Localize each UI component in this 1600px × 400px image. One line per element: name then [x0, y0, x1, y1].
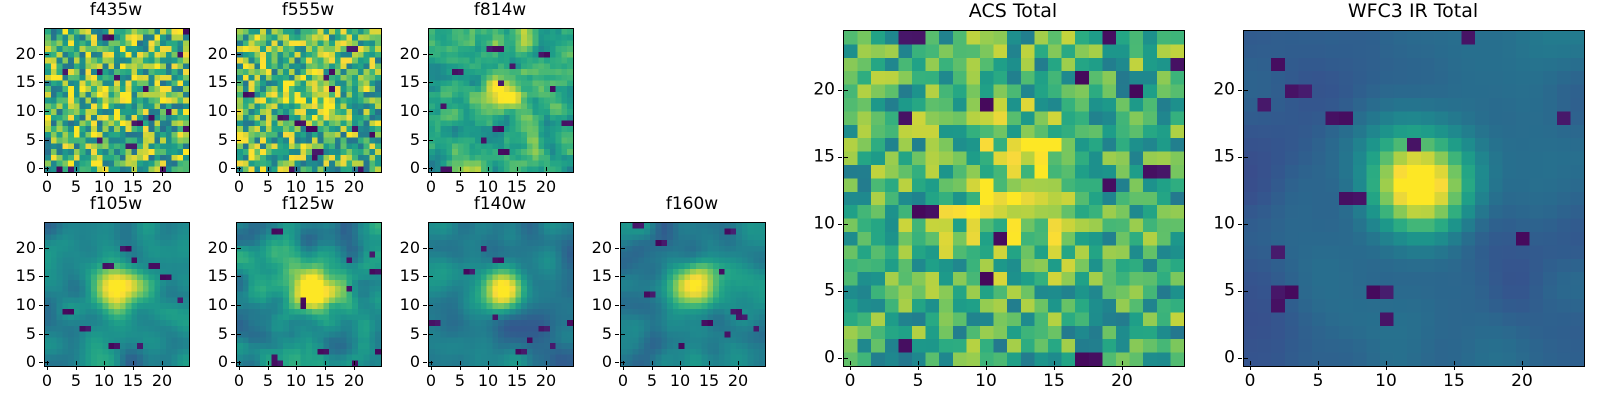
- ytick-inner-f125w-15: [237, 276, 241, 277]
- ytick-inner-f814w-5: [429, 140, 433, 141]
- ytick-inner-f160w-0: [621, 362, 625, 363]
- ytick-f160w-20: [615, 248, 619, 249]
- xtick-label-f140w-20: 20: [536, 373, 556, 389]
- ytick-f140w-10: [423, 305, 427, 306]
- xtick-f140w-0: [431, 366, 432, 370]
- ytick-label-wfc3-ir-total-10: 10: [1153, 216, 1235, 233]
- ytick-f140w-20: [423, 248, 427, 249]
- ytick-label-f814w-20: 20: [338, 46, 420, 62]
- ytick-f160w-10: [615, 305, 619, 306]
- xtick-label-f160w-0: 0: [618, 373, 628, 389]
- ytick-label-f555w-10: 10: [146, 103, 228, 119]
- xtick-wfc3-ir-total-0: [1250, 366, 1251, 370]
- ytick-f555w-10: [231, 111, 235, 112]
- ytick-f555w-15: [231, 82, 235, 83]
- xtick-f814w-10: [488, 172, 489, 176]
- ytick-inner-f105w-15: [45, 276, 49, 277]
- ytick-inner-f555w-0: [237, 168, 241, 169]
- panel-title-f435w: f435w: [44, 2, 188, 19]
- xtick-f435w-0: [47, 172, 48, 176]
- xtick-f125w-15: [325, 366, 326, 370]
- xtick-inner-f105w-15: [133, 361, 134, 365]
- ytick-f125w-10: [231, 305, 235, 306]
- ytick-label-f125w-20: 20: [146, 240, 228, 256]
- ytick-label-wfc3-ir-total-15: 15: [1153, 149, 1235, 166]
- ytick-label-f814w-10: 10: [338, 103, 420, 119]
- xtick-f105w-0: [47, 366, 48, 370]
- ytick-label-acs-total-15: 15: [753, 149, 835, 166]
- ytick-label-f140w-15: 15: [338, 268, 420, 284]
- xtick-inner-f814w-20: [546, 167, 547, 171]
- ytick-acs-total-15: [838, 157, 842, 158]
- ytick-inner-f125w-20: [237, 248, 241, 249]
- xtick-label-wfc3-ir-total-10: 10: [1375, 373, 1397, 390]
- ytick-inner-f105w-5: [45, 334, 49, 335]
- xtick-wfc3-ir-total-10: [1386, 366, 1387, 370]
- xtick-inner-f435w-15: [133, 167, 134, 171]
- xtick-label-f555w-10: 10: [286, 179, 306, 195]
- ytick-inner-f105w-10: [45, 305, 49, 306]
- xtick-label-f814w-0: 0: [426, 179, 436, 195]
- panel-title-f555w: f555w: [236, 2, 380, 19]
- ytick-f435w-20: [39, 54, 43, 55]
- ytick-f814w-20: [423, 54, 427, 55]
- ytick-label-f435w-5: 5: [0, 132, 36, 148]
- ytick-inner-f160w-5: [621, 334, 625, 335]
- ytick-inner-acs-total-15: [844, 157, 848, 158]
- ytick-label-f140w-20: 20: [338, 240, 420, 256]
- xtick-label-acs-total-20: 20: [1111, 373, 1133, 390]
- ytick-f814w-0: [423, 168, 427, 169]
- ytick-label-f140w-5: 5: [338, 326, 420, 342]
- xtick-wfc3-ir-total-20: [1522, 366, 1523, 370]
- ytick-label-f105w-20: 20: [0, 240, 36, 256]
- xtick-label-f140w-0: 0: [426, 373, 436, 389]
- heatmap-image-f814w: [429, 29, 573, 172]
- xtick-label-f160w-5: 5: [647, 373, 657, 389]
- xtick-inner-f125w-5: [268, 361, 269, 365]
- ytick-label-f814w-0: 0: [338, 160, 420, 176]
- xtick-inner-f435w-10: [104, 167, 105, 171]
- ytick-inner-f105w-0: [45, 362, 49, 363]
- xtick-f140w-10: [488, 366, 489, 370]
- ytick-inner-f125w-0: [237, 362, 241, 363]
- ytick-wfc3-ir-total-20: [1238, 90, 1242, 91]
- ytick-label-f125w-10: 10: [146, 297, 228, 313]
- xtick-label-f140w-5: 5: [455, 373, 465, 389]
- xtick-f814w-5: [460, 172, 461, 176]
- xtick-inner-f105w-10: [104, 361, 105, 365]
- xtick-label-wfc3-ir-total-5: 5: [1313, 373, 1324, 390]
- ytick-wfc3-ir-total-5: [1238, 291, 1242, 292]
- xtick-label-f105w-20: 20: [152, 373, 172, 389]
- ytick-acs-total-10: [838, 224, 842, 225]
- xtick-f105w-5: [76, 366, 77, 370]
- ytick-label-f160w-10: 10: [530, 297, 612, 313]
- xtick-inner-f125w-15: [325, 361, 326, 365]
- ytick-f105w-0: [39, 362, 43, 363]
- xtick-label-f160w-20: 20: [728, 373, 748, 389]
- ytick-inner-f814w-15: [429, 82, 433, 83]
- xtick-label-f435w-10: 10: [94, 179, 114, 195]
- ytick-f435w-15: [39, 82, 43, 83]
- ytick-f814w-10: [423, 111, 427, 112]
- axes-acs-total[interactable]: [843, 30, 1185, 367]
- ytick-inner-acs-total-20: [844, 90, 848, 91]
- panel-f160w: f160w0510152005101520: [620, 196, 764, 395]
- xtick-label-f160w-10: 10: [670, 373, 690, 389]
- xtick-f125w-10: [296, 366, 297, 370]
- ytick-inner-wfc3-ir-total-5: [1244, 291, 1248, 292]
- ytick-label-f435w-15: 15: [0, 74, 36, 90]
- xtick-label-acs-total-5: 5: [913, 373, 924, 390]
- ytick-label-f105w-15: 15: [0, 268, 36, 284]
- xtick-inner-f160w-5: [652, 361, 653, 365]
- xtick-inner-wfc3-ir-total-15: [1454, 361, 1455, 365]
- ytick-f555w-20: [231, 54, 235, 55]
- axes-wfc3-ir-total[interactable]: [1243, 30, 1585, 367]
- xtick-label-f125w-15: 15: [315, 373, 335, 389]
- xtick-label-f814w-5: 5: [455, 179, 465, 195]
- ytick-f125w-5: [231, 334, 235, 335]
- xtick-acs-total-0: [850, 366, 851, 370]
- ytick-inner-f140w-20: [429, 248, 433, 249]
- panel-acs-total: ACS Total0510152005101520: [843, 2, 1183, 395]
- ytick-inner-f140w-5: [429, 334, 433, 335]
- ytick-inner-acs-total-0: [844, 358, 848, 359]
- xtick-f160w-5: [652, 366, 653, 370]
- ytick-inner-f435w-15: [45, 82, 49, 83]
- xtick-inner-acs-total-0: [850, 361, 851, 365]
- panel-f814w: f814w0510152005101520: [428, 2, 572, 201]
- panel-title-f814w: f814w: [428, 2, 572, 19]
- ytick-label-f160w-0: 0: [530, 354, 612, 370]
- xtick-inner-f160w-15: [709, 361, 710, 365]
- ytick-acs-total-5: [838, 291, 842, 292]
- panel-title-f105w: f105w: [44, 196, 188, 213]
- xtick-label-f105w-15: 15: [123, 373, 143, 389]
- panel-title-f140w: f140w: [428, 196, 572, 213]
- xtick-label-f125w-10: 10: [286, 373, 306, 389]
- ytick-inner-f555w-10: [237, 111, 241, 112]
- xtick-inner-wfc3-ir-total-0: [1250, 361, 1251, 365]
- ytick-inner-f814w-0: [429, 168, 433, 169]
- xtick-label-f140w-10: 10: [478, 373, 498, 389]
- ytick-inner-f125w-10: [237, 305, 241, 306]
- ytick-label-f105w-10: 10: [0, 297, 36, 313]
- xtick-label-f814w-15: 15: [507, 179, 527, 195]
- xtick-label-f140w-15: 15: [507, 373, 527, 389]
- ytick-label-f125w-15: 15: [146, 268, 228, 284]
- xtick-inner-f160w-20: [738, 361, 739, 365]
- ytick-f160w-0: [615, 362, 619, 363]
- xtick-f555w-10: [296, 172, 297, 176]
- ytick-label-f125w-0: 0: [146, 354, 228, 370]
- ytick-inner-f814w-20: [429, 54, 433, 55]
- ytick-inner-f435w-0: [45, 168, 49, 169]
- ytick-wfc3-ir-total-15: [1238, 157, 1242, 158]
- ytick-inner-wfc3-ir-total-10: [1244, 224, 1248, 225]
- ytick-label-f435w-20: 20: [0, 46, 36, 62]
- xtick-acs-total-20: [1122, 366, 1123, 370]
- ytick-f125w-20: [231, 248, 235, 249]
- xtick-f125w-0: [239, 366, 240, 370]
- xtick-f435w-15: [133, 172, 134, 176]
- xtick-label-f435w-0: 0: [42, 179, 52, 195]
- ytick-label-f555w-0: 0: [146, 160, 228, 176]
- xtick-f140w-5: [460, 366, 461, 370]
- xtick-f555w-5: [268, 172, 269, 176]
- xtick-inner-f814w-15: [517, 167, 518, 171]
- xtick-inner-f140w-5: [460, 361, 461, 365]
- xtick-label-f435w-20: 20: [152, 179, 172, 195]
- ytick-label-acs-total-0: 0: [753, 350, 835, 367]
- panel-title-f160w: f160w: [620, 196, 764, 213]
- ytick-inner-f160w-15: [621, 276, 625, 277]
- ytick-inner-acs-total-10: [844, 224, 848, 225]
- ytick-label-acs-total-10: 10: [753, 216, 835, 233]
- ytick-f105w-10: [39, 305, 43, 306]
- xtick-f435w-10: [104, 172, 105, 176]
- ytick-inner-f125w-5: [237, 334, 241, 335]
- ytick-wfc3-ir-total-0: [1238, 358, 1242, 359]
- heatmap-image-wfc3-ir-total: [1244, 31, 1584, 366]
- xtick-label-f555w-5: 5: [263, 179, 273, 195]
- xtick-f435w-5: [76, 172, 77, 176]
- xtick-label-f105w-10: 10: [94, 373, 114, 389]
- xtick-label-f160w-15: 15: [699, 373, 719, 389]
- xtick-f160w-0: [623, 366, 624, 370]
- ytick-label-wfc3-ir-total-20: 20: [1153, 82, 1235, 99]
- xtick-inner-acs-total-5: [918, 361, 919, 365]
- ytick-acs-total-20: [838, 90, 842, 91]
- ytick-inner-wfc3-ir-total-0: [1244, 358, 1248, 359]
- ytick-label-f814w-5: 5: [338, 132, 420, 148]
- ytick-f125w-0: [231, 362, 235, 363]
- ytick-inner-f105w-20: [45, 248, 49, 249]
- ytick-inner-f435w-5: [45, 140, 49, 141]
- ytick-inner-wfc3-ir-total-15: [1244, 157, 1248, 158]
- xtick-label-f105w-0: 0: [42, 373, 52, 389]
- xtick-f105w-10: [104, 366, 105, 370]
- ytick-inner-f555w-5: [237, 140, 241, 141]
- heatmap-image-acs-total: [844, 31, 1184, 366]
- xtick-label-acs-total-0: 0: [845, 373, 856, 390]
- ytick-label-wfc3-ir-total-0: 0: [1153, 350, 1235, 367]
- ytick-f105w-5: [39, 334, 43, 335]
- xtick-label-f125w-20: 20: [344, 373, 364, 389]
- xtick-label-f555w-0: 0: [234, 179, 244, 195]
- xtick-inner-wfc3-ir-total-5: [1318, 361, 1319, 365]
- ytick-f140w-0: [423, 362, 427, 363]
- xtick-inner-wfc3-ir-total-10: [1386, 361, 1387, 365]
- xtick-label-f555w-15: 15: [315, 179, 335, 195]
- xtick-label-f125w-0: 0: [234, 373, 244, 389]
- xtick-f555w-15: [325, 172, 326, 176]
- ytick-inner-f555w-20: [237, 54, 241, 55]
- ytick-inner-f160w-10: [621, 305, 625, 306]
- xtick-inner-f140w-15: [517, 361, 518, 365]
- xtick-wfc3-ir-total-15: [1454, 366, 1455, 370]
- ytick-f555w-0: [231, 168, 235, 169]
- ytick-label-wfc3-ir-total-5: 5: [1153, 283, 1235, 300]
- xtick-inner-f125w-10: [296, 361, 297, 365]
- xtick-inner-wfc3-ir-total-20: [1522, 361, 1523, 365]
- ytick-label-f160w-20: 20: [530, 240, 612, 256]
- ytick-f160w-15: [615, 276, 619, 277]
- ytick-label-f435w-10: 10: [0, 103, 36, 119]
- xtick-label-f125w-5: 5: [263, 373, 273, 389]
- xtick-wfc3-ir-total-5: [1318, 366, 1319, 370]
- ytick-inner-f140w-0: [429, 362, 433, 363]
- xtick-f105w-15: [133, 366, 134, 370]
- ytick-f435w-10: [39, 111, 43, 112]
- xtick-inner-f555w-15: [325, 167, 326, 171]
- panel-title-f125w: f125w: [236, 196, 380, 213]
- ytick-label-f140w-10: 10: [338, 297, 420, 313]
- ytick-inner-f814w-10: [429, 111, 433, 112]
- ytick-f435w-5: [39, 140, 43, 141]
- ytick-f555w-5: [231, 140, 235, 141]
- ytick-f814w-5: [423, 140, 427, 141]
- ytick-label-f160w-15: 15: [530, 268, 612, 284]
- ytick-label-f125w-5: 5: [146, 326, 228, 342]
- xtick-f140w-15: [517, 366, 518, 370]
- figure-canvas: f435w0510152005101520f555w05101520051015…: [0, 0, 1600, 400]
- xtick-label-f814w-20: 20: [536, 179, 556, 195]
- xtick-label-wfc3-ir-total-15: 15: [1443, 373, 1465, 390]
- xtick-label-acs-total-15: 15: [1043, 373, 1065, 390]
- ytick-label-f814w-15: 15: [338, 74, 420, 90]
- ytick-label-f140w-0: 0: [338, 354, 420, 370]
- xtick-f125w-5: [268, 366, 269, 370]
- xtick-label-f435w-5: 5: [71, 179, 81, 195]
- ytick-f435w-0: [39, 168, 43, 169]
- xtick-label-wfc3-ir-total-0: 0: [1245, 373, 1256, 390]
- ytick-inner-f435w-20: [45, 54, 49, 55]
- ytick-inner-f160w-20: [621, 248, 625, 249]
- panel-title-acs-total: ACS Total: [843, 2, 1183, 21]
- xtick-inner-f814w-10: [488, 167, 489, 171]
- xtick-label-f555w-20: 20: [344, 179, 364, 195]
- axes-f814w[interactable]: [428, 28, 574, 173]
- xtick-label-f435w-15: 15: [123, 179, 143, 195]
- ytick-label-f555w-5: 5: [146, 132, 228, 148]
- xtick-inner-f814w-5: [460, 167, 461, 171]
- xtick-f814w-15: [517, 172, 518, 176]
- ytick-label-f555w-20: 20: [146, 46, 228, 62]
- xtick-f160w-15: [709, 366, 710, 370]
- ytick-inner-acs-total-5: [844, 291, 848, 292]
- ytick-f814w-15: [423, 82, 427, 83]
- ytick-label-f435w-0: 0: [0, 160, 36, 176]
- ytick-label-acs-total-20: 20: [753, 82, 835, 99]
- panel-title-wfc3-ir-total: WFC3 IR Total: [1243, 2, 1583, 21]
- ytick-label-f105w-5: 5: [0, 326, 36, 342]
- xtick-inner-f105w-5: [76, 361, 77, 365]
- ytick-label-f105w-0: 0: [0, 354, 36, 370]
- axes-f160w[interactable]: [620, 222, 766, 367]
- xtick-acs-total-15: [1054, 366, 1055, 370]
- panel-wfc3-ir-total: WFC3 IR Total0510152005101520: [1243, 2, 1583, 395]
- ytick-label-acs-total-5: 5: [753, 283, 835, 300]
- ytick-inner-f140w-10: [429, 305, 433, 306]
- xtick-inner-f435w-5: [76, 167, 77, 171]
- ytick-f125w-15: [231, 276, 235, 277]
- ytick-f105w-15: [39, 276, 43, 277]
- xtick-inner-f160w-10: [680, 361, 681, 365]
- ytick-acs-total-0: [838, 358, 842, 359]
- ytick-inner-wfc3-ir-total-20: [1244, 90, 1248, 91]
- xtick-f814w-0: [431, 172, 432, 176]
- xtick-inner-acs-total-20: [1122, 361, 1123, 365]
- xtick-inner-f555w-5: [268, 167, 269, 171]
- ytick-f160w-5: [615, 334, 619, 335]
- ytick-label-f160w-5: 5: [530, 326, 612, 342]
- ytick-inner-f435w-10: [45, 111, 49, 112]
- ytick-f105w-20: [39, 248, 43, 249]
- xtick-label-f105w-5: 5: [71, 373, 81, 389]
- ytick-wfc3-ir-total-10: [1238, 224, 1242, 225]
- xtick-inner-acs-total-10: [986, 361, 987, 365]
- heatmap-image-f160w: [621, 223, 765, 366]
- xtick-f814w-20: [546, 172, 547, 176]
- xtick-f555w-0: [239, 172, 240, 176]
- ytick-inner-f140w-15: [429, 276, 433, 277]
- xtick-inner-acs-total-15: [1054, 361, 1055, 365]
- xtick-label-f814w-10: 10: [478, 179, 498, 195]
- xtick-f160w-20: [738, 366, 739, 370]
- xtick-label-acs-total-10: 10: [975, 373, 997, 390]
- xtick-label-wfc3-ir-total-20: 20: [1511, 373, 1533, 390]
- ytick-f140w-15: [423, 276, 427, 277]
- xtick-inner-f140w-10: [488, 361, 489, 365]
- xtick-acs-total-10: [986, 366, 987, 370]
- xtick-f160w-10: [680, 366, 681, 370]
- xtick-acs-total-5: [918, 366, 919, 370]
- xtick-inner-f555w-10: [296, 167, 297, 171]
- ytick-f140w-5: [423, 334, 427, 335]
- ytick-label-f555w-15: 15: [146, 74, 228, 90]
- ytick-inner-f555w-15: [237, 82, 241, 83]
